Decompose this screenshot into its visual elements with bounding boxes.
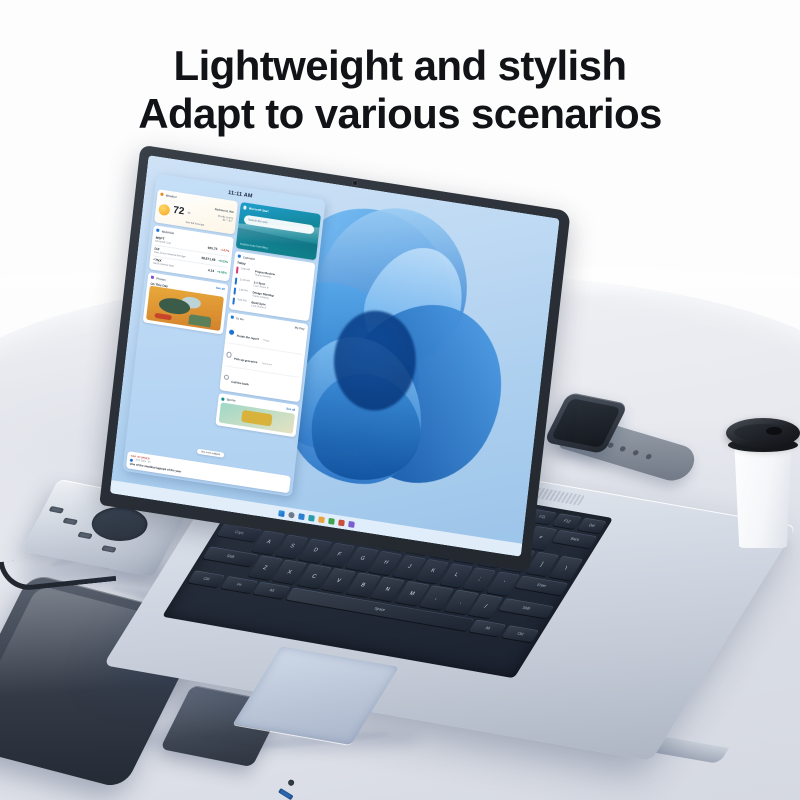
cup-lid (726, 418, 800, 448)
stock-price: 4.14 (208, 268, 215, 273)
cup-body (730, 436, 796, 548)
photos-header-label: Photos (156, 276, 166, 281)
key-fn[interactable]: Fn (220, 576, 258, 593)
calendar-icon (238, 255, 242, 259)
hub-port (62, 518, 78, 526)
sports-icon (221, 397, 225, 401)
photos-see-all[interactable]: See all (216, 286, 225, 291)
stock-price: 405.73 (207, 246, 217, 252)
watchlist-icon (156, 229, 160, 233)
widgets-icon[interactable] (308, 514, 315, 521)
event-time: 1:30 PM (238, 288, 249, 293)
photos-widget[interactable]: Photos See all On This Day (143, 272, 229, 334)
todo-list-name: My Day (295, 325, 305, 331)
search-header-label: Microsoft Start (249, 206, 269, 213)
event-color-bar (232, 297, 234, 304)
stock-price: 38,671.69 (201, 256, 216, 262)
file-explorer-icon[interactable] (318, 516, 325, 523)
microsoft-start-icon (243, 206, 247, 210)
screen: 11:11 AM Weather Redmond, WA (110, 155, 560, 557)
sports-header-label: Sports (226, 398, 235, 403)
webcam-icon (353, 181, 357, 186)
checkbox-icon[interactable] (224, 374, 230, 380)
more-widgets-button[interactable]: See more widgets (197, 448, 225, 457)
todo-sub: Today (263, 340, 269, 343)
widgets-panel[interactable]: 11:11 AM Weather Redmond, WA (123, 174, 326, 498)
key-ctrl-left[interactable]: Ctrl (188, 570, 226, 587)
headline-line-1: Lightweight and stylish (174, 42, 627, 89)
search-placeholder: Search the web (248, 218, 268, 225)
cup-lid-top (734, 424, 792, 441)
photos-icon (151, 276, 155, 280)
todo-widget[interactable]: To Do My Day Finish the report Today (219, 312, 308, 403)
event-color-bar (236, 267, 238, 274)
hub-port (77, 532, 93, 540)
event-color-bar (233, 287, 235, 294)
sun-icon (158, 203, 170, 216)
event-time: 11:00 AM (240, 278, 251, 283)
hub-port (101, 545, 117, 553)
headline-line-2: Adapt to various scenarios (0, 90, 800, 138)
event-time: 9:00 AM (241, 268, 252, 273)
cup-sip-hole (766, 427, 782, 435)
key-ctrl-right[interactable]: Ctrl (502, 625, 540, 642)
search-header: Microsoft Start (243, 205, 269, 213)
checkbox-icon[interactable] (226, 352, 232, 358)
event-color-bar (235, 277, 237, 284)
headline: Lightweight and stylish Adapt to various… (0, 42, 800, 138)
product-scene: Lightweight and stylish Adapt to various… (0, 0, 800, 800)
event-time: 3:00 PM (237, 298, 248, 303)
stock-change: -1.07% (220, 248, 229, 253)
todo-icon (231, 315, 235, 319)
key[interactable]: Del (577, 518, 607, 534)
photo-shape (154, 312, 172, 320)
headphone-jack-port (287, 779, 295, 787)
weather-high-low: 81° / 61° (217, 218, 232, 223)
sports-see-all[interactable]: See all (286, 407, 295, 412)
todo-text: Finish the report (236, 334, 259, 341)
weather-degree-unit: °F (187, 211, 191, 216)
watchlist-widget[interactable]: Watchlist MSFT Microsoft Corp. 40 (149, 225, 234, 281)
widgets-grid: Weather Redmond, WA 72 °F Mostly sunny (131, 189, 321, 449)
search-icon[interactable] (288, 511, 295, 518)
screen-bezel: 11:11 AM Weather Redmond, WA (110, 155, 560, 557)
key-backspace[interactable]: Back (553, 529, 598, 548)
stock-change: +0.05% (217, 269, 227, 274)
task-view-icon[interactable] (298, 513, 305, 520)
laptop-lid: 11:11 AM Weather Redmond, WA (99, 145, 570, 572)
hub-port (49, 506, 65, 514)
calendar-header-label: Calendar (243, 255, 255, 261)
weather-icon (161, 193, 165, 197)
todo-text: Call the bank (231, 379, 249, 386)
stock-change: +0.23% (218, 258, 228, 263)
usb-a-port (278, 788, 293, 800)
key-alt-right[interactable]: Alt (469, 619, 507, 636)
store-icon[interactable] (338, 519, 345, 526)
todo-text: Pick up groceries (234, 357, 258, 365)
key[interactable]: F12 (552, 513, 582, 529)
todo-header-label: To Do (236, 316, 244, 321)
search-widget[interactable]: Microsoft Start Search the web Explore m… (236, 202, 321, 260)
weather-header-label: Weather (166, 193, 177, 199)
todo-sub: Tomorrow (262, 363, 272, 367)
photo-shape (188, 314, 211, 328)
calendar-widget[interactable]: Calendar Today 9:00 AM Project Review (229, 251, 315, 321)
windows-start-icon[interactable] (278, 510, 285, 517)
mail-icon[interactable] (348, 520, 355, 527)
checkbox-icon[interactable] (229, 329, 235, 335)
laptop: ⏻ Esc F1 F2 F3 F4 F5 F6 F7 F8 F9 F10 F11… (118, 178, 718, 738)
trackpad[interactable] (233, 646, 399, 745)
weather-temperature: 72 (172, 206, 184, 218)
key-alt-left[interactable]: Alt (253, 582, 291, 599)
edge-browser-icon[interactable] (328, 517, 335, 524)
watchlist-header-label: Watchlist (162, 229, 175, 235)
coffee-cup (726, 408, 800, 548)
